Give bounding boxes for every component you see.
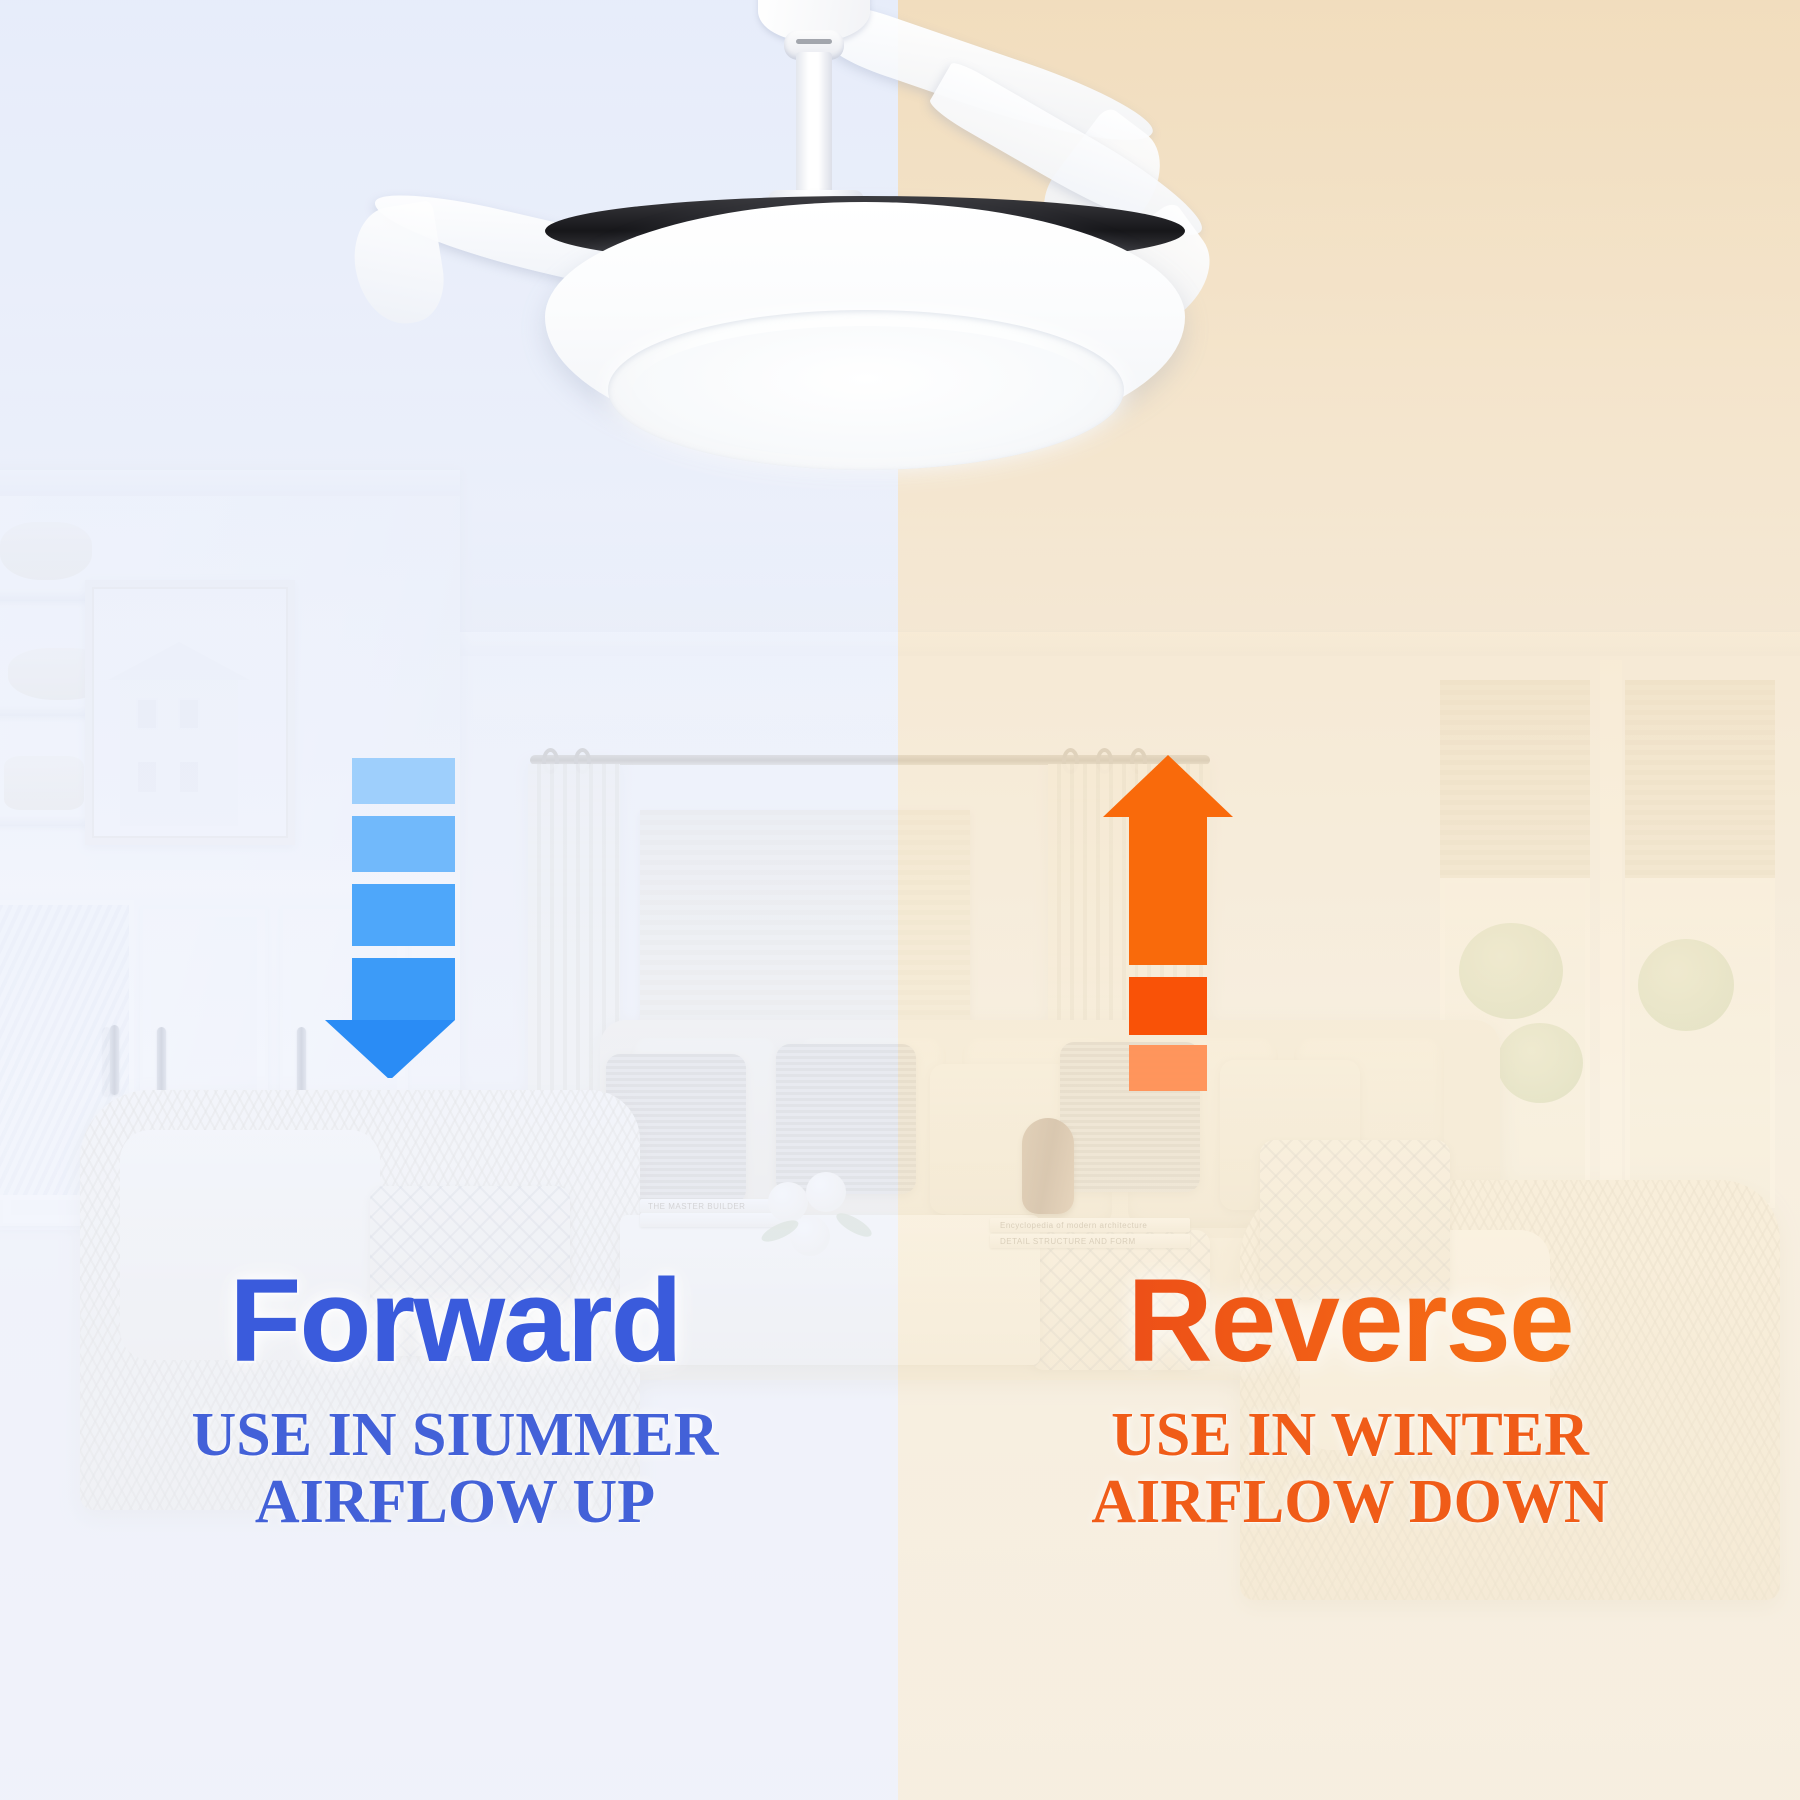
arrow-head — [1103, 755, 1233, 817]
infographic-canvas: THE MASTER BUILDER Encyclopedia of moder… — [0, 0, 1800, 1800]
ceiling-fan — [360, 0, 1260, 500]
roman-shade — [1440, 680, 1590, 880]
reverse-caption-block: Reverse USE IN WINTER AIRFLOW DOWN — [930, 1262, 1770, 1536]
foliage — [1459, 923, 1563, 1019]
shelf-object — [0, 522, 92, 580]
illustration-window — [136, 698, 158, 730]
window — [1625, 878, 1775, 1208]
arrow-segment-1 — [352, 758, 455, 804]
cabinet-handle[interactable] — [110, 1025, 119, 1095]
book-title: DETAIL STRUCTURE AND FORM — [1000, 1237, 1136, 1246]
downward-airflow-arrow — [325, 758, 455, 1078]
picture-house-illustration — [120, 676, 238, 826]
reverse-arrow-svg — [1103, 755, 1233, 1100]
book-title: THE MASTER BUILDER — [648, 1202, 745, 1211]
fan-light-lens-inner — [632, 326, 1100, 458]
reverse-subtitle-line-1: USE IN WINTER — [930, 1402, 1770, 1469]
window-mullion — [1600, 660, 1622, 1220]
arrow-segment-3 — [1129, 1045, 1207, 1091]
flower — [806, 1172, 846, 1212]
fan-downrod — [796, 52, 832, 202]
reverse-title: Reverse — [930, 1262, 1770, 1380]
ceramic-vase — [1022, 1118, 1074, 1214]
cabinet-handle[interactable] — [297, 1027, 306, 1097]
flower — [768, 1182, 808, 1222]
forward-caption-block: Forward USE IN SIUMMER AIRFLOW UP — [40, 1262, 870, 1536]
roman-shade — [1625, 680, 1775, 880]
cabinet-handle[interactable] — [157, 1027, 166, 1097]
book-title: Encyclopedia of modern architecture — [1000, 1221, 1147, 1230]
framed-picture — [85, 580, 295, 845]
foliage — [1497, 1023, 1583, 1103]
arrow-segment-2 — [352, 816, 455, 872]
forward-subtitle-line-2: AIRFLOW UP — [40, 1469, 870, 1536]
leaf — [833, 1209, 875, 1241]
illustration-window — [178, 698, 200, 730]
forward-title: Forward — [40, 1262, 870, 1380]
reverse-subtitle-line-2: AIRFLOW DOWN — [930, 1469, 1770, 1536]
arrow-segment-2 — [1129, 977, 1207, 1035]
foliage — [1638, 939, 1734, 1031]
arrow-head — [325, 1020, 455, 1078]
forward-arrow-svg — [325, 758, 455, 1078]
arrow-segment-1 — [1129, 815, 1207, 965]
forward-subtitle-line-1: USE IN SIUMMER — [40, 1402, 870, 1469]
arrow-segment-4 — [352, 958, 455, 1020]
arrow-segment-3 — [352, 884, 455, 946]
shelf-object — [4, 756, 84, 810]
roman-shade — [640, 810, 970, 1040]
upward-airflow-arrow — [1103, 755, 1233, 1100]
illustration-window — [136, 760, 158, 794]
illustration-window — [178, 760, 200, 794]
